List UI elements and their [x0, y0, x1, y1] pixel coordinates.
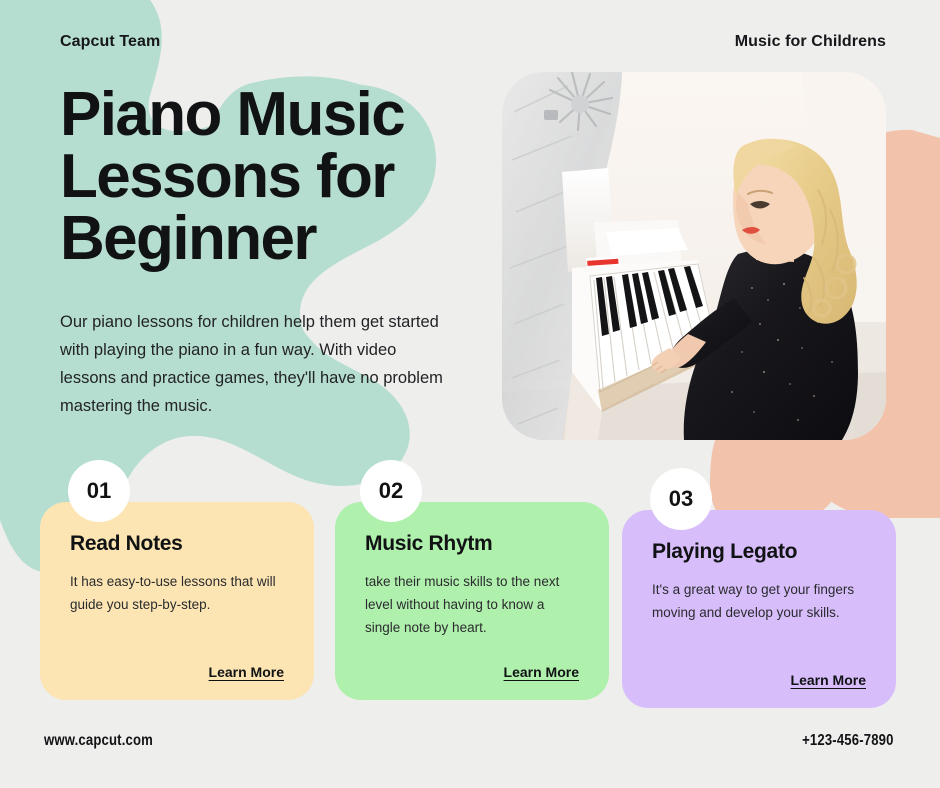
- poster-canvas: Capcut Team Music for Childrens Piano Mu…: [0, 0, 940, 788]
- feature-card-3[interactable]: Playing Legato It's a great way to get y…: [622, 510, 896, 708]
- brand-label: Capcut Team: [60, 33, 160, 51]
- card-title: Playing Legato: [652, 540, 868, 564]
- card-number-badge-1: 01: [68, 460, 130, 522]
- footer-phone[interactable]: +123-456-7890: [802, 732, 894, 750]
- tagline-label: Music for Childrens: [735, 33, 886, 51]
- feature-card-2[interactable]: Music Rhytm take their music skills to t…: [335, 502, 609, 700]
- footer: www.capcut.com +123-456-7890: [44, 732, 894, 750]
- learn-more-link-3[interactable]: Learn More: [791, 672, 866, 688]
- card-number-badge-2: 02: [360, 460, 422, 522]
- page-title: Piano Music Lessons for Beginner: [60, 84, 490, 270]
- header: Capcut Team Music for Childrens: [60, 33, 886, 51]
- feature-cards: Read Notes It has easy-to-use lessons th…: [0, 455, 940, 705]
- card-title: Read Notes: [70, 532, 286, 556]
- card-body: It has easy-to-use lessons that will gui…: [70, 570, 286, 616]
- learn-more-link-2[interactable]: Learn More: [504, 664, 579, 680]
- card-body: take their music skills to the next leve…: [365, 570, 581, 639]
- footer-website[interactable]: www.capcut.com: [44, 732, 153, 750]
- card-body: It's a great way to get your fingers mov…: [652, 578, 868, 624]
- card-title: Music Rhytm: [365, 532, 581, 556]
- card-number-badge-3: 03: [650, 468, 712, 530]
- piano-photo: [502, 72, 886, 440]
- feature-card-1[interactable]: Read Notes It has easy-to-use lessons th…: [40, 502, 314, 700]
- hero-description: Our piano lessons for children help them…: [60, 308, 450, 420]
- learn-more-link-1[interactable]: Learn More: [209, 664, 284, 680]
